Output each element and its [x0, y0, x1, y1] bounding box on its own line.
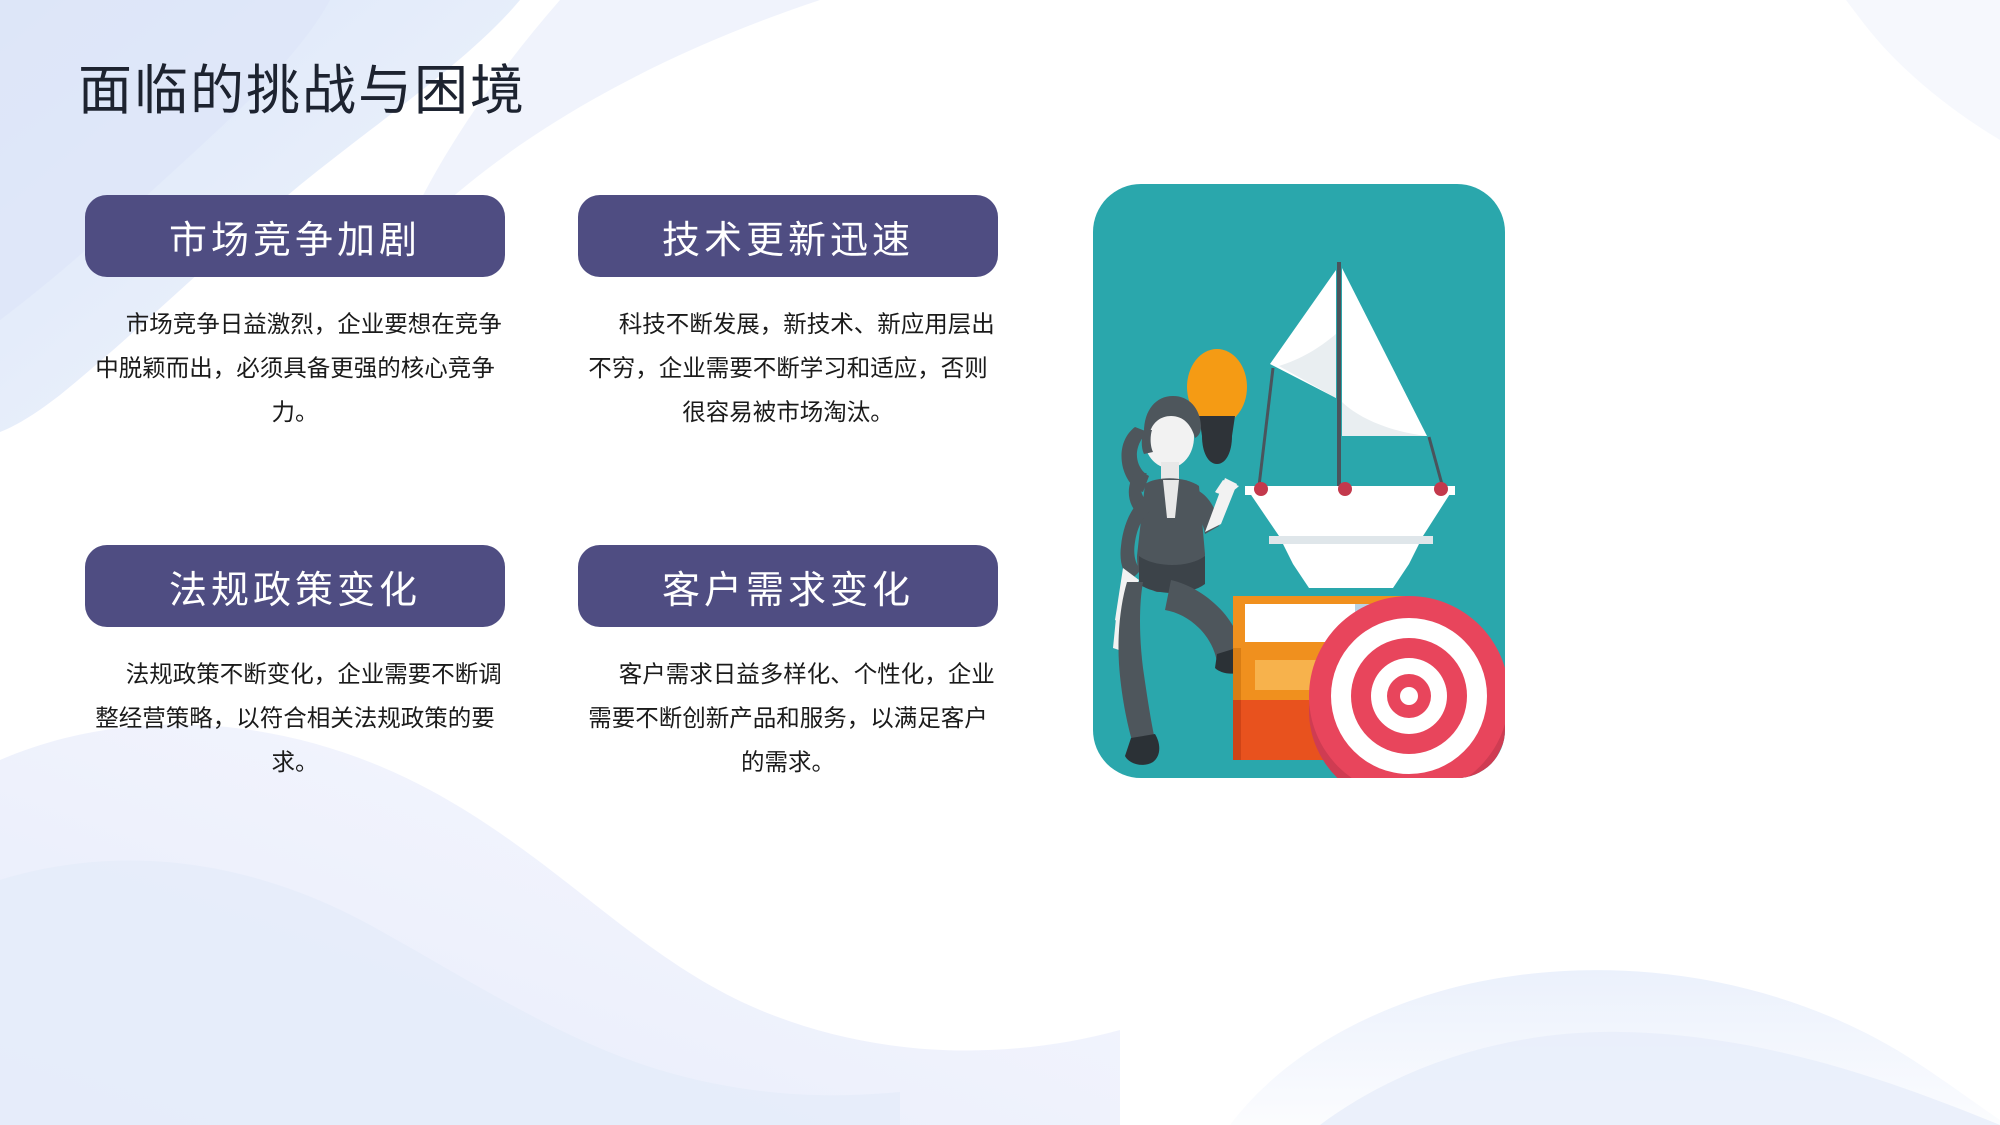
slide-canvas: 面临的挑战与困境 市场竞争加剧 市场竞争日益激烈，企业要想在竞争中脱颖而出，必须… — [0, 0, 2000, 1125]
challenge-card-4: 客户需求变化 客户需求日益多样化、个性化，企业需要不断创新产品和服务，以满足客户… — [578, 545, 998, 785]
challenge-card-1-body: 市场竞争日益激烈，企业要想在竞争中脱颖而出，必须具备更强的核心竞争力。 — [85, 303, 505, 435]
rigging-dot — [1338, 482, 1352, 496]
challenge-card-3-body: 法规政策不断变化，企业需要不断调整经营策略，以符合相关法规政策的要求。 — [85, 653, 505, 785]
challenge-card-2-header: 技术更新迅速 — [578, 195, 998, 277]
challenge-card-1-header: 市场竞争加剧 — [85, 195, 505, 277]
rigging-dot — [1434, 482, 1448, 496]
challenge-card-2: 技术更新迅速 科技不断发展，新技术、新应用层出不穷，企业需要不断学习和适应，否则… — [578, 195, 998, 435]
challenge-card-1: 市场竞争加剧 市场竞争日益激烈，企业要想在竞争中脱颖而出，必须具备更强的核心竞争… — [85, 195, 505, 435]
challenge-card-3-header: 法规政策变化 — [85, 545, 505, 627]
challenge-card-4-header: 客户需求变化 — [578, 545, 998, 627]
page-title: 面临的挑战与困境 — [78, 60, 526, 124]
challenge-card-4-body: 客户需求日益多样化、个性化，企业需要不断创新产品和服务，以满足客户的需求。 — [578, 653, 998, 785]
challenge-card-3: 法规政策变化 法规政策不断变化，企业需要不断调整经营策略，以符合相关法规政策的要… — [85, 545, 505, 785]
illustration-panel — [1093, 184, 1505, 778]
rigging-dot — [1254, 482, 1268, 496]
challenge-card-2-body: 科技不断发展，新技术、新应用层出不穷，企业需要不断学习和适应，否则很容易被市场淘… — [578, 303, 998, 435]
